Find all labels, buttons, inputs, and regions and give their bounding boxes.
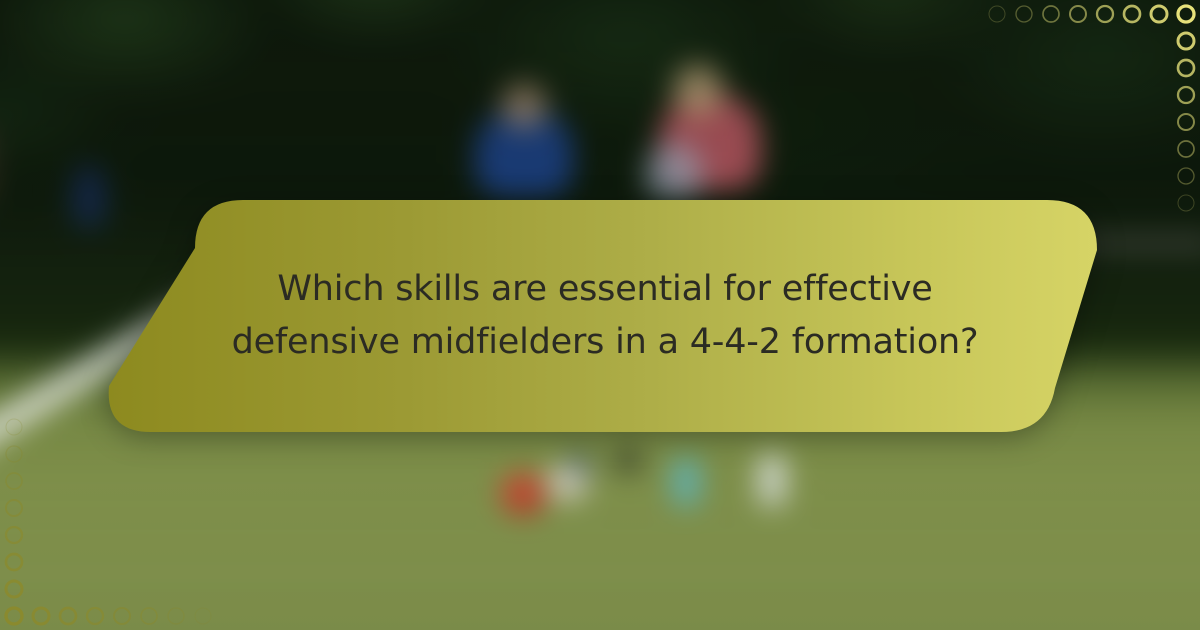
decor-dot	[1016, 6, 1032, 22]
decor-dot	[6, 554, 22, 570]
decor-dot	[114, 608, 130, 624]
decor-dot	[6, 581, 22, 597]
decor-dot	[195, 608, 211, 624]
question-line-2: defensive midfielders in a 4-4-2 formati…	[232, 323, 979, 362]
decor-dot	[6, 419, 22, 435]
decor-dot	[1178, 114, 1194, 130]
question-text: Which skills are essential for effective…	[150, 196, 1060, 436]
decor-dot	[1070, 6, 1086, 22]
slide-canvas: Which skills are essential for effective…	[0, 0, 1200, 630]
decor-dot	[6, 608, 22, 624]
decor-dot	[1124, 6, 1140, 22]
decor-dot	[1097, 6, 1113, 22]
decor-dot	[1043, 6, 1059, 22]
decor-dot	[60, 608, 76, 624]
decor-dot	[1151, 6, 1167, 22]
question-line-1: Which skills are essential for effective	[277, 270, 932, 309]
decor-dot	[87, 608, 103, 624]
decor-dot	[1178, 33, 1194, 49]
decor-dot	[1178, 60, 1194, 76]
decor-dot	[6, 446, 22, 462]
decor-dot	[6, 473, 22, 489]
decor-dot	[1178, 6, 1194, 22]
dot-grid-bottom-left	[0, 415, 210, 630]
decor-dot	[1178, 195, 1194, 211]
decor-dot	[1178, 87, 1194, 103]
decor-dot	[989, 6, 1005, 22]
decor-dot	[168, 608, 184, 624]
decor-dot	[141, 608, 157, 624]
dot-grid-top-right	[990, 0, 1200, 215]
decor-dot	[1178, 168, 1194, 184]
decor-dot	[6, 527, 22, 543]
decor-dot	[33, 608, 49, 624]
decor-dot	[1178, 141, 1194, 157]
decor-dot	[6, 500, 22, 516]
